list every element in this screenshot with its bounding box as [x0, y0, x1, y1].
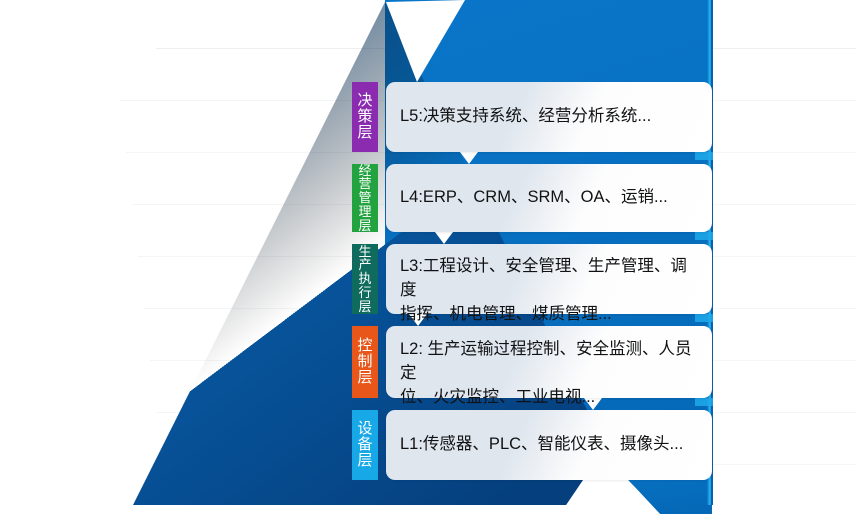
layer-card-text-line2: 位、火灾监控、工业电视...: [400, 386, 698, 410]
layer-card-l1[interactable]: L1:传感器、PLC、智能仪表、摄像头...: [386, 410, 712, 480]
tag-char: 层: [357, 370, 372, 386]
tag-char: 策: [357, 109, 372, 125]
layer-card-l3[interactable]: L3:工程设计、安全管理、生产管理、调度 指挥、机电管理、煤质管理...: [386, 244, 712, 314]
tag-char: 产: [358, 258, 371, 272]
layer-card-text-line1: L2: 生产运输过程控制、安全监测、人员定: [400, 338, 698, 386]
tag-char: 决: [357, 93, 372, 109]
layer-rows: 决 策 层 L5:决策支持系统、经营分析系统... 经 营 管 理 层 L4:E…: [0, 0, 856, 514]
layer-tag-business-management[interactable]: 经 营 管 理 层: [352, 164, 378, 232]
tag-char: 层: [357, 125, 372, 141]
diagram-canvas: 决 策 层 L5:决策支持系统、经营分析系统... 经 营 管 理 层 L4:E…: [0, 0, 856, 514]
tag-char: 设: [357, 421, 372, 437]
layer-tag-control[interactable]: 控 制 层: [352, 326, 378, 398]
layer-card-text-line1: L3:工程设计、安全管理、生产管理、调度: [400, 255, 698, 303]
layer-row-l5[interactable]: 决 策 层 L5:决策支持系统、经营分析系统...: [352, 82, 712, 152]
layer-tag-equipment[interactable]: 设 备 层: [352, 410, 378, 480]
layer-card-l5[interactable]: L5:决策支持系统、经营分析系统...: [386, 82, 712, 152]
layer-card-l2[interactable]: L2: 生产运输过程控制、安全监测、人员定 位、火灾监控、工业电视...: [386, 326, 712, 398]
tag-char: 管: [358, 191, 371, 205]
tag-char: 制: [357, 354, 372, 370]
layer-card-text: L5:决策支持系统、经营分析系统...: [400, 105, 651, 129]
layer-row-l2[interactable]: 控 制 层 L2: 生产运输过程控制、安全监测、人员定 位、火灾监控、工业电视.…: [352, 326, 712, 398]
tag-char: 理: [358, 205, 371, 219]
tag-char: 营: [358, 177, 371, 191]
tag-char: 层: [358, 219, 371, 233]
layer-card-text: L1:传感器、PLC、智能仪表、摄像头...: [400, 433, 683, 457]
tag-char: 备: [357, 437, 372, 453]
tag-char: 经: [358, 164, 371, 178]
tag-char: 执: [358, 272, 371, 286]
tag-char: 行: [358, 286, 371, 300]
tag-char: 层: [357, 453, 372, 469]
layer-tag-decision[interactable]: 决 策 层: [352, 82, 378, 152]
layer-row-l3[interactable]: 生 产 执 行 层 L3:工程设计、安全管理、生产管理、调度 指挥、机电管理、煤…: [352, 244, 712, 314]
layer-card-text-line2: 指挥、机电管理、煤质管理...: [400, 303, 698, 327]
layer-tag-production-execution[interactable]: 生 产 执 行 层: [352, 244, 378, 314]
layer-row-l4[interactable]: 经 营 管 理 层 L4:ERP、CRM、SRM、OA、运销...: [352, 164, 712, 232]
layer-card-text: L4:ERP、CRM、SRM、OA、运销...: [400, 186, 668, 210]
tag-char: 生: [358, 245, 371, 259]
layer-card-l4[interactable]: L4:ERP、CRM、SRM、OA、运销...: [386, 164, 712, 232]
tag-char: 层: [358, 300, 371, 314]
layer-row-l1[interactable]: 设 备 层 L1:传感器、PLC、智能仪表、摄像头...: [352, 410, 712, 480]
tag-char: 控: [357, 338, 372, 354]
